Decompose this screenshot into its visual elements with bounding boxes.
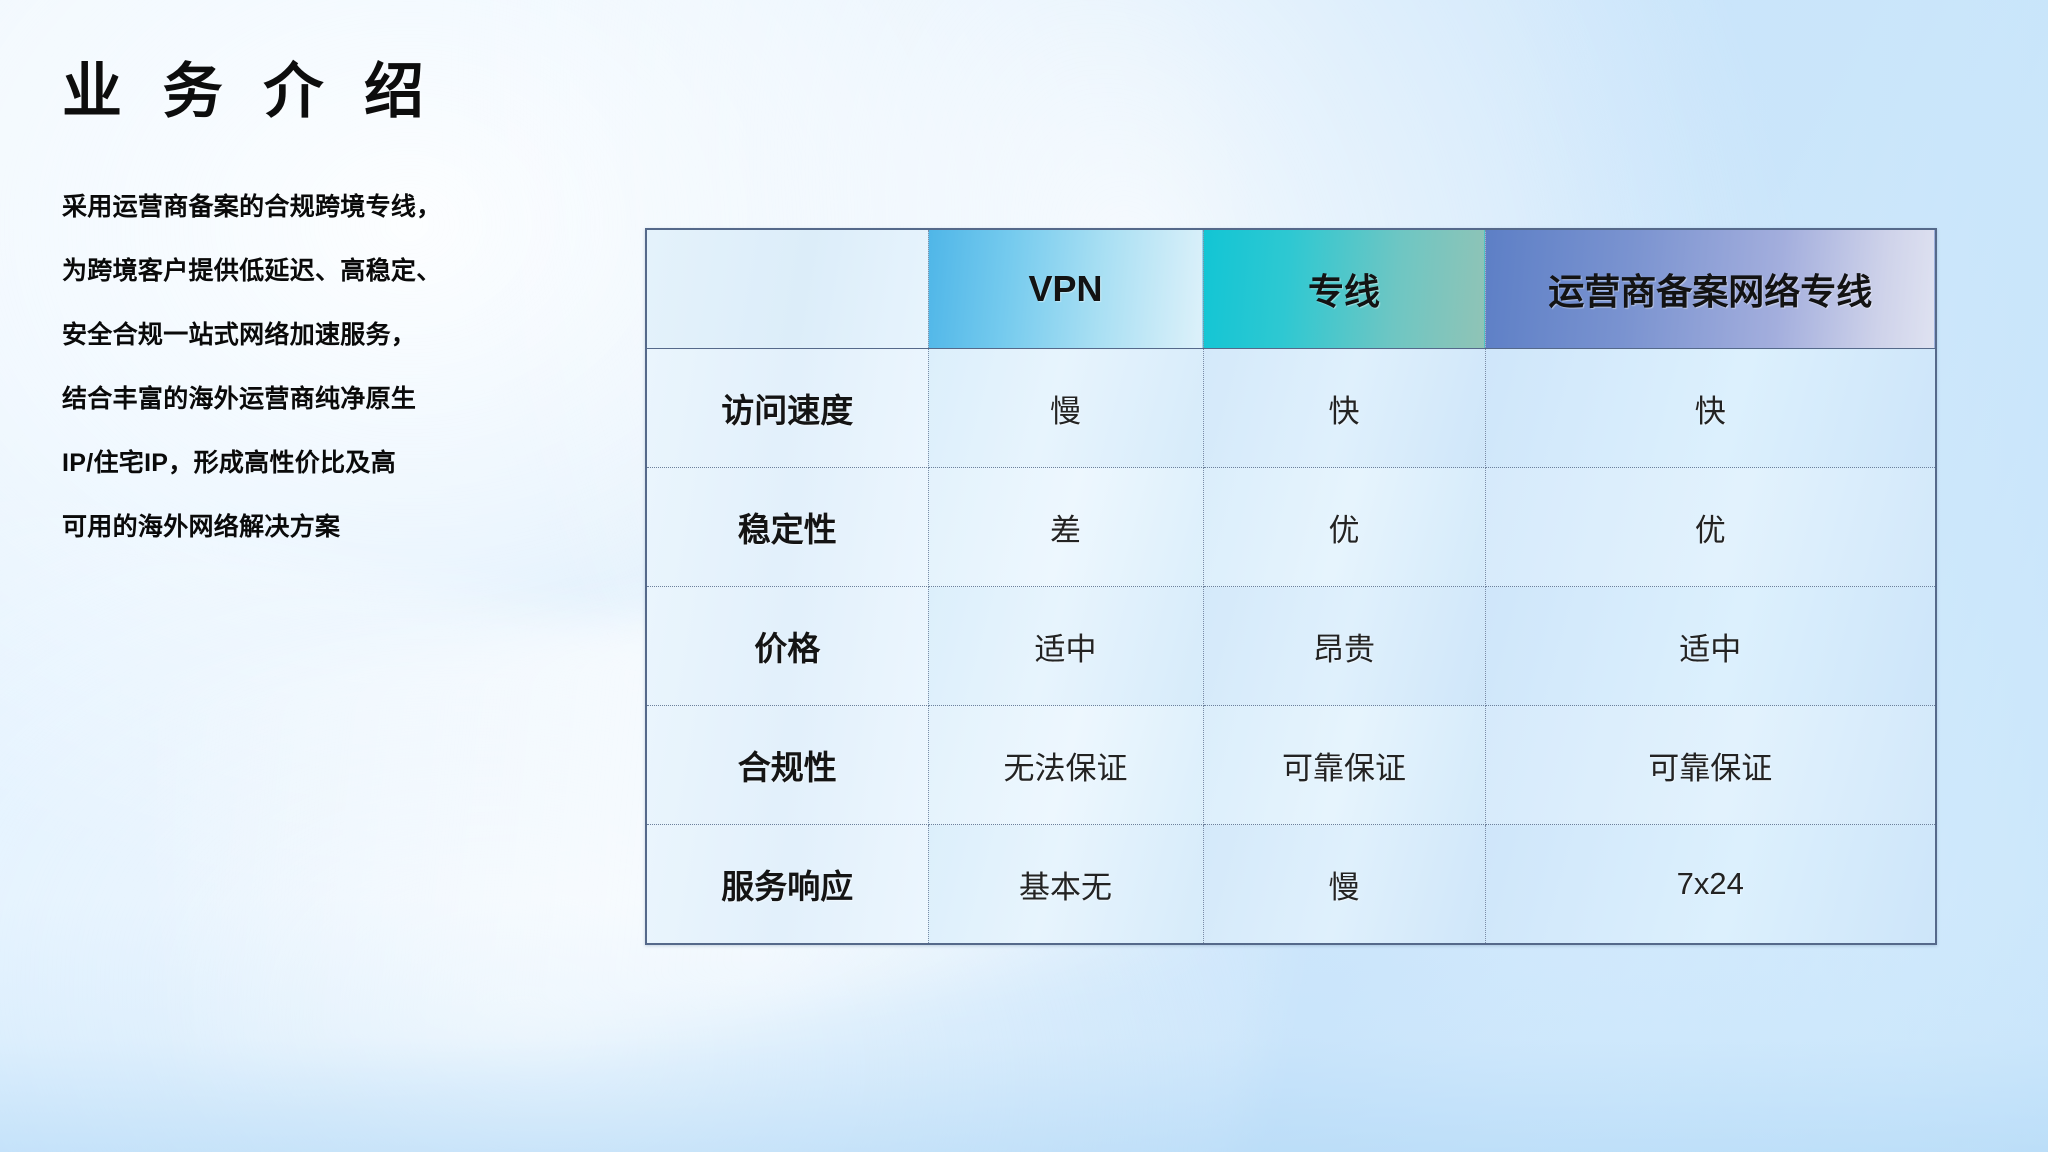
cell-vpn: 无法保证 <box>928 706 1203 825</box>
table-header-dedicated-line: 专线 <box>1203 229 1485 349</box>
intro-line: 结合丰富的海外运营商纯净原生 <box>62 367 482 431</box>
table-row: 稳定性 差 优 优 <box>646 468 1936 587</box>
table-header-row: VPN 专线 运营商备案网络专线 <box>646 229 1936 349</box>
cell-carrier-network: 可靠保证 <box>1485 706 1936 825</box>
cell-carrier-network: 7x24 <box>1485 825 1936 945</box>
intro-paragraph: 采用运营商备案的合规跨境专线， 为跨境客户提供低延迟、高稳定、 安全合规一站式网… <box>62 175 482 559</box>
cell-carrier-network: 优 <box>1485 468 1936 587</box>
page-title: 业 务 介 绍 <box>62 56 436 128</box>
slide-canvas: 业 务 介 绍 采用运营商备案的合规跨境专线， 为跨境客户提供低延迟、高稳定、 … <box>0 0 2048 1152</box>
cell-dedicated-line: 昂贵 <box>1203 587 1485 706</box>
intro-line: IP/住宅IP，形成高性价比及高 <box>62 431 482 495</box>
row-label: 访问速度 <box>646 349 928 468</box>
intro-line: 可用的海外网络解决方案 <box>62 495 482 559</box>
row-label: 价格 <box>646 587 928 706</box>
intro-line: 采用运营商备案的合规跨境专线， <box>62 175 482 239</box>
cell-carrier-network: 快 <box>1485 349 1936 468</box>
cell-vpn: 差 <box>928 468 1203 587</box>
table-header-vpn: VPN <box>928 229 1203 349</box>
table-header-carrier-network: 运营商备案网络专线 <box>1485 229 1936 349</box>
cell-dedicated-line: 快 <box>1203 349 1485 468</box>
intro-line: 安全合规一站式网络加速服务， <box>62 303 482 367</box>
row-label: 稳定性 <box>646 468 928 587</box>
cell-vpn: 慢 <box>928 349 1203 468</box>
row-label: 合规性 <box>646 706 928 825</box>
cell-vpn: 适中 <box>928 587 1203 706</box>
row-label: 服务响应 <box>646 825 928 945</box>
table-row: 访问速度 慢 快 快 <box>646 349 1936 468</box>
cell-carrier-network: 适中 <box>1485 587 1936 706</box>
table-header-blank <box>646 229 928 349</box>
table-row: 合规性 无法保证 可靠保证 可靠保证 <box>646 706 1936 825</box>
cell-vpn: 基本无 <box>928 825 1203 945</box>
cell-dedicated-line: 可靠保证 <box>1203 706 1485 825</box>
cell-dedicated-line: 慢 <box>1203 825 1485 945</box>
table-row: 服务响应 基本无 慢 7x24 <box>646 825 1936 945</box>
intro-line: 为跨境客户提供低延迟、高稳定、 <box>62 239 482 303</box>
comparison-table: VPN 专线 运营商备案网络专线 访问速度 慢 快 快 稳定性 差 优 优 价格… <box>645 228 1937 945</box>
cell-dedicated-line: 优 <box>1203 468 1485 587</box>
table-row: 价格 适中 昂贵 适中 <box>646 587 1936 706</box>
